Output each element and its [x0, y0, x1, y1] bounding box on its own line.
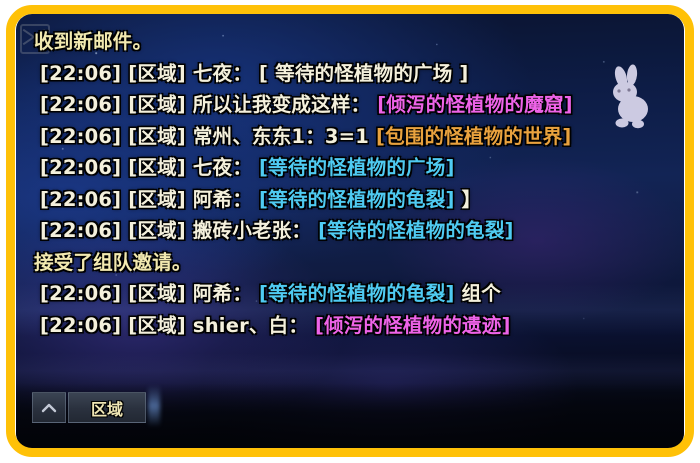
chat-text-segment: [22:06]	[40, 125, 121, 148]
chat-message-line: [22:06] [区域] 阿希： [等待的怪植物的龟裂] 组个	[40, 284, 674, 304]
chat-message-line: [22:06] [区域] shier、白： [倾泻的怪植物的遗迹]	[40, 316, 674, 336]
chat-message-line: [22:06] [区域] 所以让我变成这样： [倾泻的怪植物的魔窟]	[40, 95, 674, 115]
chat-text-segment: 】	[462, 188, 482, 211]
chat-text-segment: 组个	[462, 282, 501, 305]
chat-text-segment: [区域]	[128, 62, 186, 85]
chat-tab-bar: 区域	[32, 392, 146, 423]
chat-link-segment[interactable]: [等待的怪植物的广场]	[259, 156, 455, 179]
chat-text-segment: 搬砖小老张：	[193, 219, 311, 242]
chat-message-line: [22:06] [区域] 常州、东东1：3=1 [包围的怪植物的世界]	[40, 127, 674, 147]
chat-text-segment: 收到新邮件。	[34, 30, 152, 53]
screenshot-frame: 收到新邮件。[22:06] [区域] 七夜： [ 等待的怪植物的广场 ][22:…	[0, 0, 700, 463]
chat-link-segment[interactable]: [等待的怪植物的龟裂]	[259, 282, 455, 305]
tabbar-glow	[148, 385, 160, 427]
chat-text-segment: [区域]	[128, 93, 186, 116]
chat-text-segment: 常州、东东1：3=1	[193, 125, 376, 148]
chat-text-segment: [22:06]	[40, 93, 121, 116]
chat-text-segment: 七夜：	[193, 62, 252, 85]
chat-text-segment: [区域]	[128, 282, 186, 305]
chat-text-segment: [22:06]	[40, 314, 121, 337]
chat-text-segment: [区域]	[128, 219, 186, 242]
chat-system-line: 接受了组队邀请。	[34, 253, 674, 273]
chevron-up-icon[interactable]	[32, 392, 66, 423]
chat-message-line: [22:06] [区域] 七夜： [ 等待的怪植物的广场 ]	[40, 64, 674, 84]
chat-link-segment[interactable]: [倾泻的怪植物的魔窟]	[377, 93, 573, 116]
chat-text-segment: [区域]	[128, 314, 186, 337]
chat-text-segment: [22:06]	[40, 188, 121, 211]
chat-log[interactable]: 收到新邮件。[22:06] [区域] 七夜： [ 等待的怪植物的广场 ][22:…	[38, 32, 674, 347]
chat-message-line: [22:06] [区域] 七夜： [等待的怪植物的广场]	[40, 158, 674, 178]
chat-text-segment: [ 等待的怪植物的广场 ]	[259, 62, 469, 85]
chat-text-segment: [22:06]	[40, 219, 121, 242]
chat-text-segment: 阿希：	[193, 282, 252, 305]
chat-text-segment: 所以让我变成这样：	[193, 93, 370, 116]
chat-text-segment: [区域]	[128, 156, 186, 179]
chat-system-line: 收到新邮件。	[34, 32, 674, 52]
chat-link-segment[interactable]: [倾泻的怪植物的遗迹]	[315, 314, 511, 337]
chat-message-line: [22:06] [区域] 阿希： [等待的怪植物的龟裂] 】	[40, 190, 674, 210]
tab-region[interactable]: 区域	[68, 392, 146, 423]
chat-link-segment[interactable]: [包围的怪植物的世界]	[376, 125, 572, 148]
chat-link-segment[interactable]: [等待的怪植物的龟裂]	[318, 219, 514, 242]
chat-text-segment: 七夜：	[193, 156, 252, 179]
chat-message-line: [22:06] [区域] 搬砖小老张： [等待的怪植物的龟裂]	[40, 221, 674, 241]
chat-text-segment: shier、白：	[193, 314, 308, 337]
chat-text-segment: [区域]	[128, 188, 186, 211]
chat-text-segment: 阿希：	[193, 188, 252, 211]
chat-text-segment: 接受了组队邀请。	[34, 251, 192, 274]
chat-text-segment: [22:06]	[40, 156, 121, 179]
chat-text-segment: [区域]	[128, 125, 186, 148]
chat-text-segment: [22:06]	[40, 62, 121, 85]
game-chat-panel: 收到新邮件。[22:06] [区域] 七夜： [ 等待的怪植物的广场 ][22:…	[16, 14, 684, 449]
chat-link-segment[interactable]: [等待的怪植物的龟裂]	[259, 188, 455, 211]
chat-text-segment: [22:06]	[40, 282, 121, 305]
